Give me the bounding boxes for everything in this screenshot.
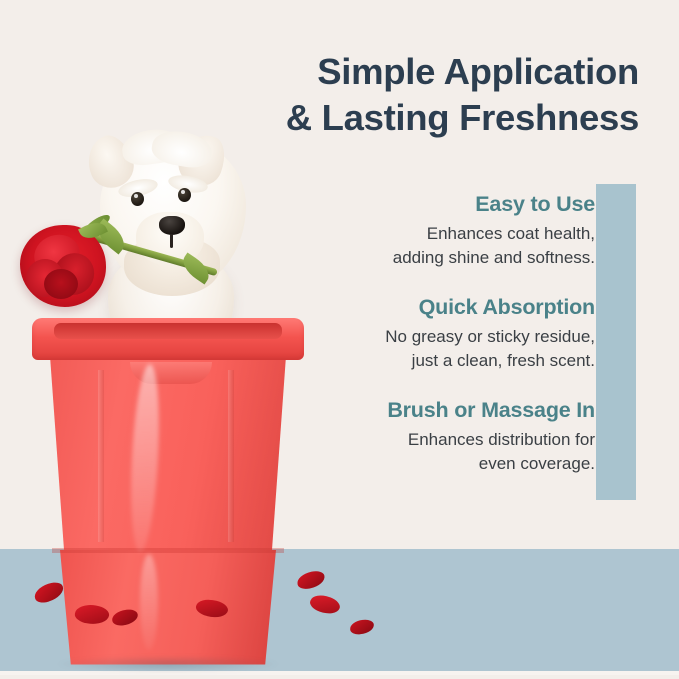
feature-description-line-2: adding shine and softness. (315, 246, 595, 270)
feature-description-line-1: Enhances coat health, (315, 222, 595, 246)
feature-item-easy-to-use: Easy to Use Enhances coat health, adding… (315, 190, 595, 269)
feature-title: Quick Absorption (315, 293, 595, 322)
bin-seam (52, 548, 284, 553)
feature-description: Enhances coat health, adding shine and s… (315, 222, 595, 269)
feature-title: Easy to Use (315, 190, 595, 219)
bin-shadow (58, 656, 278, 672)
feature-description: No greasy or sticky residue, just a clea… (315, 325, 595, 372)
feature-item-brush-or-massage-in: Brush or Massage In Enhances distributio… (315, 396, 595, 475)
feature-description-line-1: Enhances distribution for (315, 428, 595, 452)
accent-bar (596, 184, 636, 500)
dog-nose (159, 216, 185, 235)
feature-description-line-2: even coverage. (315, 452, 595, 476)
feature-item-quick-absorption: Quick Absorption No greasy or sticky res… (315, 293, 595, 372)
rose-petal (44, 269, 78, 299)
dog-eye-left (131, 192, 144, 206)
dog-mouth (170, 234, 173, 248)
product-feature-banner: Simple Application & Lasting Freshness E… (0, 0, 679, 679)
page-title-line-1: Simple Application (219, 49, 639, 95)
page-title-line-2: & Lasting Freshness (219, 95, 639, 141)
bin-rim-inner (54, 323, 282, 339)
feature-list: Easy to Use Enhances coat health, adding… (315, 190, 595, 475)
product-photo (0, 120, 340, 640)
red-storage-bin (32, 318, 304, 670)
bin-highlight (140, 554, 158, 650)
feature-description: Enhances distribution for even coverage. (315, 428, 595, 475)
bin-body (50, 356, 286, 552)
bin-rib (98, 370, 104, 542)
dog-eye-right (178, 188, 191, 202)
feature-title: Brush or Massage In (315, 396, 595, 425)
page-title: Simple Application & Lasting Freshness (219, 49, 639, 141)
bin-rib (228, 370, 234, 542)
feature-description-line-1: No greasy or sticky residue, (315, 325, 595, 349)
red-rose (20, 205, 130, 310)
bin-rim (32, 318, 304, 360)
feature-description-line-2: just a clean, fresh scent. (315, 349, 595, 373)
